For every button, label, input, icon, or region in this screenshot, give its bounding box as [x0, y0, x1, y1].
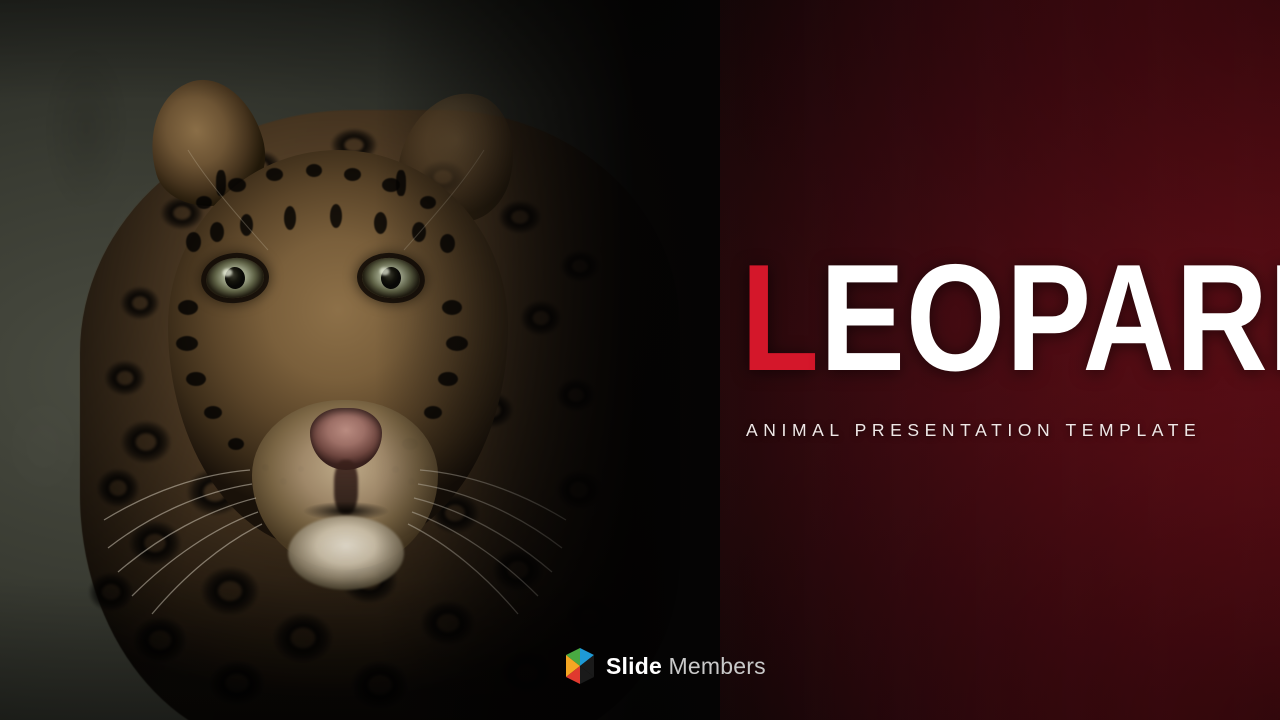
logo-word-slide: Slide — [606, 653, 662, 679]
slidemembers-logo[interactable]: Slide Members — [562, 646, 766, 686]
title-block: LEOPARD ANIMAL PRESENTATION TEMPLATE — [741, 252, 1171, 441]
logo-word-members: Members — [662, 653, 766, 679]
presentation-slide: LEOPARD ANIMAL PRESENTATION TEMPLATE Sli… — [0, 0, 1280, 720]
photo-edge-fade — [0, 0, 720, 720]
title-accent-letter: L — [741, 233, 820, 403]
slidemembers-pinwheel-logo-icon — [562, 646, 598, 686]
slide-subtitle: ANIMAL PRESENTATION TEMPLATE — [746, 420, 1171, 441]
leopard-photo — [0, 0, 720, 720]
logo-wordmark: Slide Members — [606, 655, 766, 678]
title-remainder: EOPARD — [820, 233, 1280, 403]
page-title: LEOPARD — [741, 252, 1102, 386]
